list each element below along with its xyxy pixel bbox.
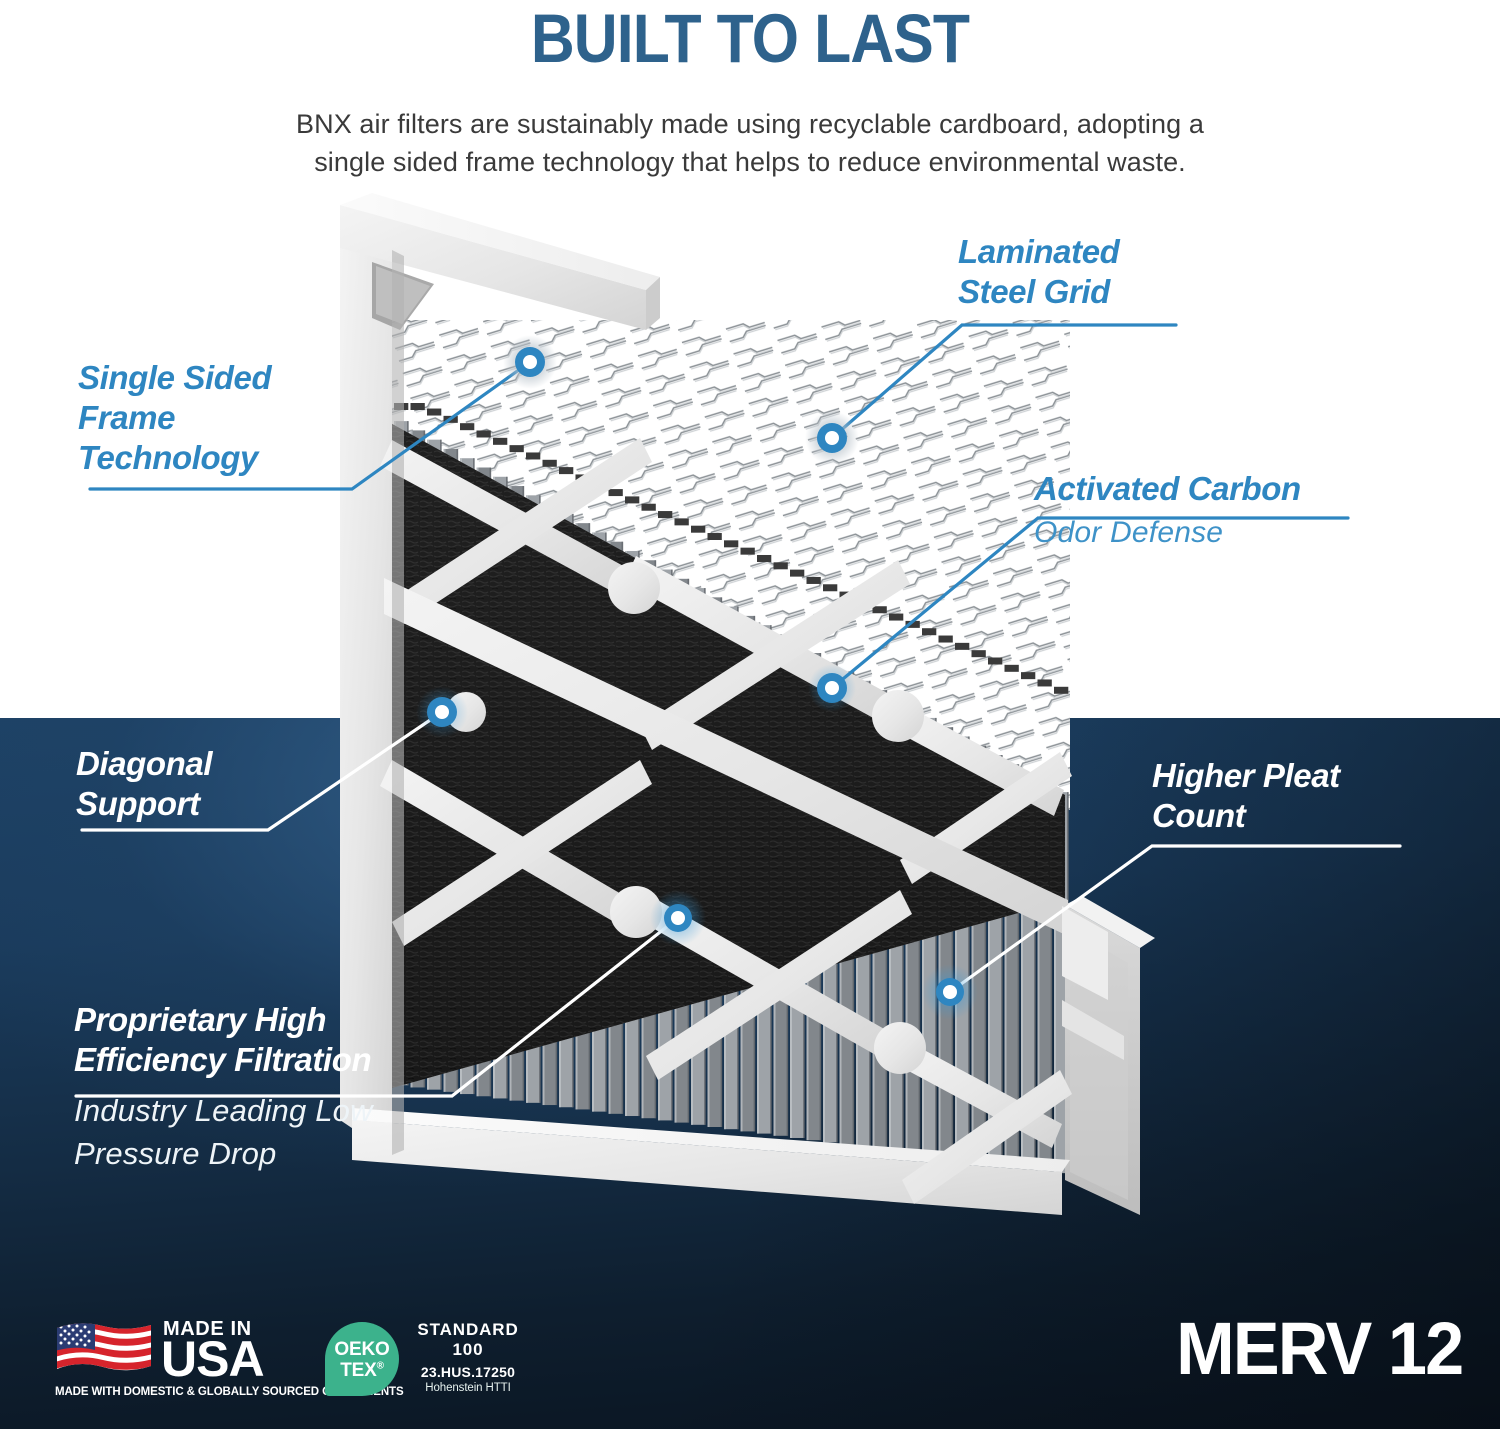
callout-title-line: Technology <box>78 438 271 478</box>
callout-title-line: Activated Carbon <box>1034 470 1301 508</box>
callout-subtitle-line: Pressure Drop <box>74 1132 373 1175</box>
callout-single-sided-frame-technology: Single Sided Frame Technology <box>78 358 271 478</box>
callout-activated-carbon: Activated Carbon Odor Defense <box>1034 470 1301 554</box>
oeko-tex-badge: OEKO TEX® STANDARD 100 23.HUS.17250 Hohe… <box>325 1318 525 1410</box>
merv-rating-label: MERV 12 <box>1176 1310 1462 1388</box>
callout-proprietary-high-efficiency-filtration: Proprietary High Efficiency Filtration I… <box>74 1000 373 1175</box>
callout-diagonal-support: Diagonal Support <box>76 744 212 824</box>
callout-title: Higher Pleat Count <box>1152 756 1340 836</box>
callout-title-line: Steel Grid <box>958 272 1119 312</box>
subtitle-line-2: single sided frame technology that helps… <box>210 143 1290 181</box>
infographic-stage: BUILT TO LAST BNX air filters are sustai… <box>0 0 1500 1429</box>
callout-subtitle-line: Industry Leading Low <box>74 1089 373 1132</box>
callout-title-line: Proprietary High <box>74 1000 373 1040</box>
oeko-mark-line-2: TEX® <box>325 1360 399 1382</box>
subtitle-line-1: BNX air filters are sustainably made usi… <box>210 105 1290 143</box>
callout-higher-pleat-count: Higher Pleat Count <box>1152 756 1340 836</box>
callout-title: Proprietary High Efficiency Filtration <box>74 1000 373 1080</box>
callout-subtitle-line: Odor Defense <box>1034 512 1301 554</box>
callout-title-line: Count <box>1152 796 1340 836</box>
oeko-standard-label: STANDARD 100 <box>405 1320 531 1360</box>
usa-fine-print: MADE WITH DOMESTIC & GLOBALLY SOURCED CO… <box>55 1386 297 1398</box>
page-title: BUILT TO LAST <box>90 0 1410 82</box>
callout-title: Diagonal Support <box>76 744 212 824</box>
callout-title: Activated Carbon <box>1034 470 1301 508</box>
callout-title: Laminated Steel Grid <box>958 232 1119 312</box>
callout-laminated-steel-grid: Laminated Steel Grid <box>958 232 1119 312</box>
usa-flag-icon <box>55 1320 153 1378</box>
oeko-mark-line-1: OEKO <box>325 1339 399 1361</box>
callout-subtitle: Odor Defense <box>1034 508 1301 554</box>
oeko-certificate-code: 23.HUS.17250 <box>405 1364 531 1380</box>
usa-label: USA <box>161 1334 264 1384</box>
callout-title-line: Laminated <box>958 232 1119 272</box>
callout-title-line: Diagonal <box>76 744 212 784</box>
callout-title-line: Higher Pleat <box>1152 756 1340 796</box>
oeko-tex-mark-icon: OEKO TEX® <box>325 1322 399 1396</box>
callout-title-line: Single Sided <box>78 358 271 398</box>
callout-subtitle: Industry Leading Low Pressure Drop <box>74 1080 373 1175</box>
made-in-usa-badge: MADE IN USA MADE WITH DOMESTIC & GLOBALL… <box>55 1318 295 1410</box>
oeko-institute-label: Hohenstein HTTI <box>405 1382 531 1394</box>
callout-title-line: Efficiency Filtration <box>74 1040 373 1080</box>
callout-title-line: Support <box>76 784 212 824</box>
page-subtitle: BNX air filters are sustainably made usi… <box>210 105 1290 181</box>
callout-title-line: Frame <box>78 398 271 438</box>
callout-title: Single Sided Frame Technology <box>78 358 271 478</box>
